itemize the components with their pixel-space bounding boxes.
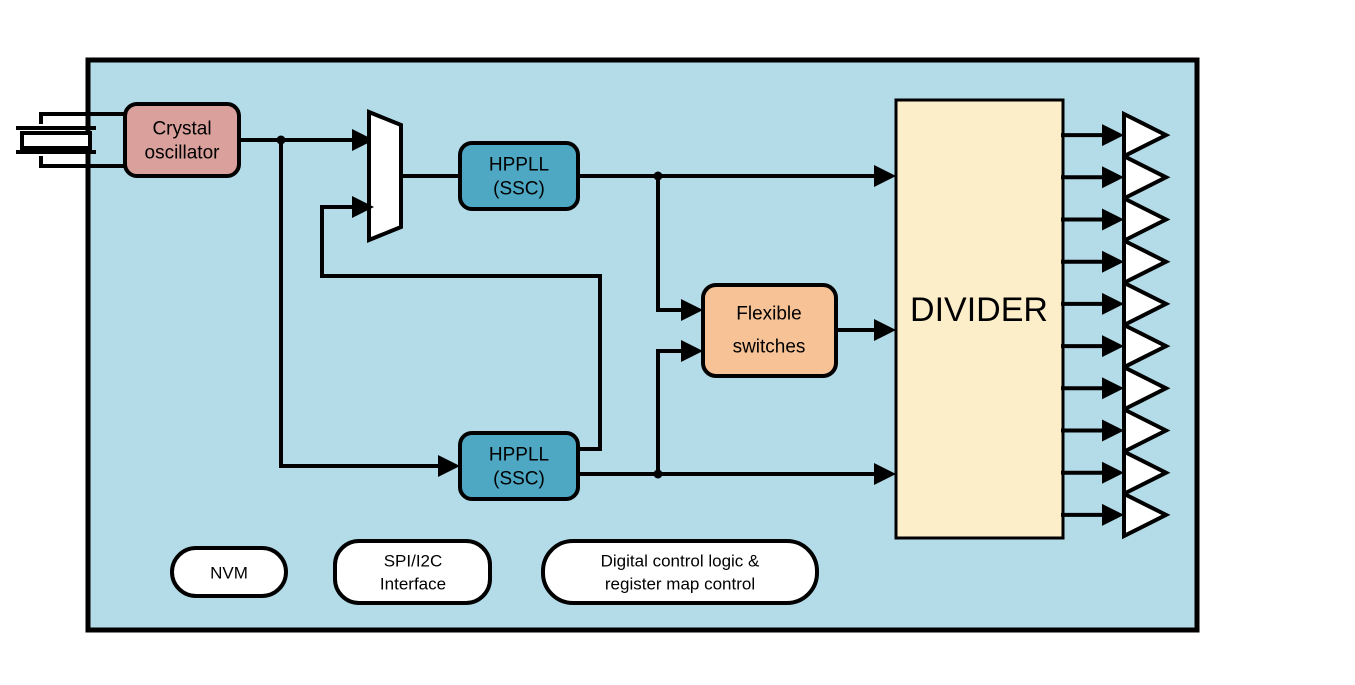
hppll-bottom-block[interactable]: HPPLL (SSC): [460, 433, 578, 499]
digital-control-logic-body[interactable]: [543, 541, 817, 603]
hppll-bottom-label-line1: HPPLL: [489, 445, 549, 466]
spi-i2c-label-line1: SPI/I2C: [384, 552, 443, 571]
hppll-top-block[interactable]: HPPLL (SSC): [460, 143, 578, 209]
junction-dot-hppll-bottom-branch: [654, 470, 663, 479]
hppll-top-label-line2: (SSC): [493, 179, 545, 200]
spi-i2c-label-line2: Interface: [380, 575, 446, 594]
block-diagram: Crystal oscillator HPPLL (SSC) HPPLL (SS…: [0, 0, 1355, 685]
digital-control-label-line2: register map control: [605, 575, 755, 594]
junction-dot-xo-branch: [277, 136, 286, 145]
nvm-label: NVM: [210, 564, 248, 583]
flexible-switches-block[interactable]: Flexible switches: [703, 285, 836, 376]
flexible-switches-body[interactable]: [703, 285, 836, 376]
digital-control-label-line1: Digital control logic &: [601, 552, 760, 571]
divider-block[interactable]: DIVIDER: [896, 100, 1063, 538]
flexible-switches-label-line2: switches: [733, 337, 806, 358]
input-mux-block[interactable]: [369, 112, 401, 240]
digital-control-logic-block[interactable]: Digital control logic & register map con…: [543, 541, 817, 603]
crystal-oscillator-label-line2: oscillator: [145, 143, 221, 164]
diagram-canvas: Crystal oscillator HPPLL (SSC) HPPLL (SS…: [0, 0, 1355, 685]
junction-dot-hppll-top-branch: [654, 172, 663, 181]
divider-label: DIVIDER: [910, 291, 1048, 329]
spi-i2c-interface-block[interactable]: SPI/I2C Interface: [335, 541, 490, 603]
crystal-oscillator-label-line1: Crystal: [152, 119, 211, 140]
input-mux-body[interactable]: [369, 112, 401, 240]
flexible-switches-label-line1: Flexible: [736, 304, 801, 325]
crystal-oscillator-body[interactable]: [125, 104, 239, 176]
hppll-top-label-line1: HPPLL: [489, 155, 549, 176]
nvm-block[interactable]: NVM: [172, 548, 286, 596]
crystal-oscillator-block[interactable]: Crystal oscillator: [125, 104, 239, 176]
hppll-bottom-label-line2: (SSC): [493, 469, 545, 490]
spi-i2c-interface-body[interactable]: [335, 541, 490, 603]
